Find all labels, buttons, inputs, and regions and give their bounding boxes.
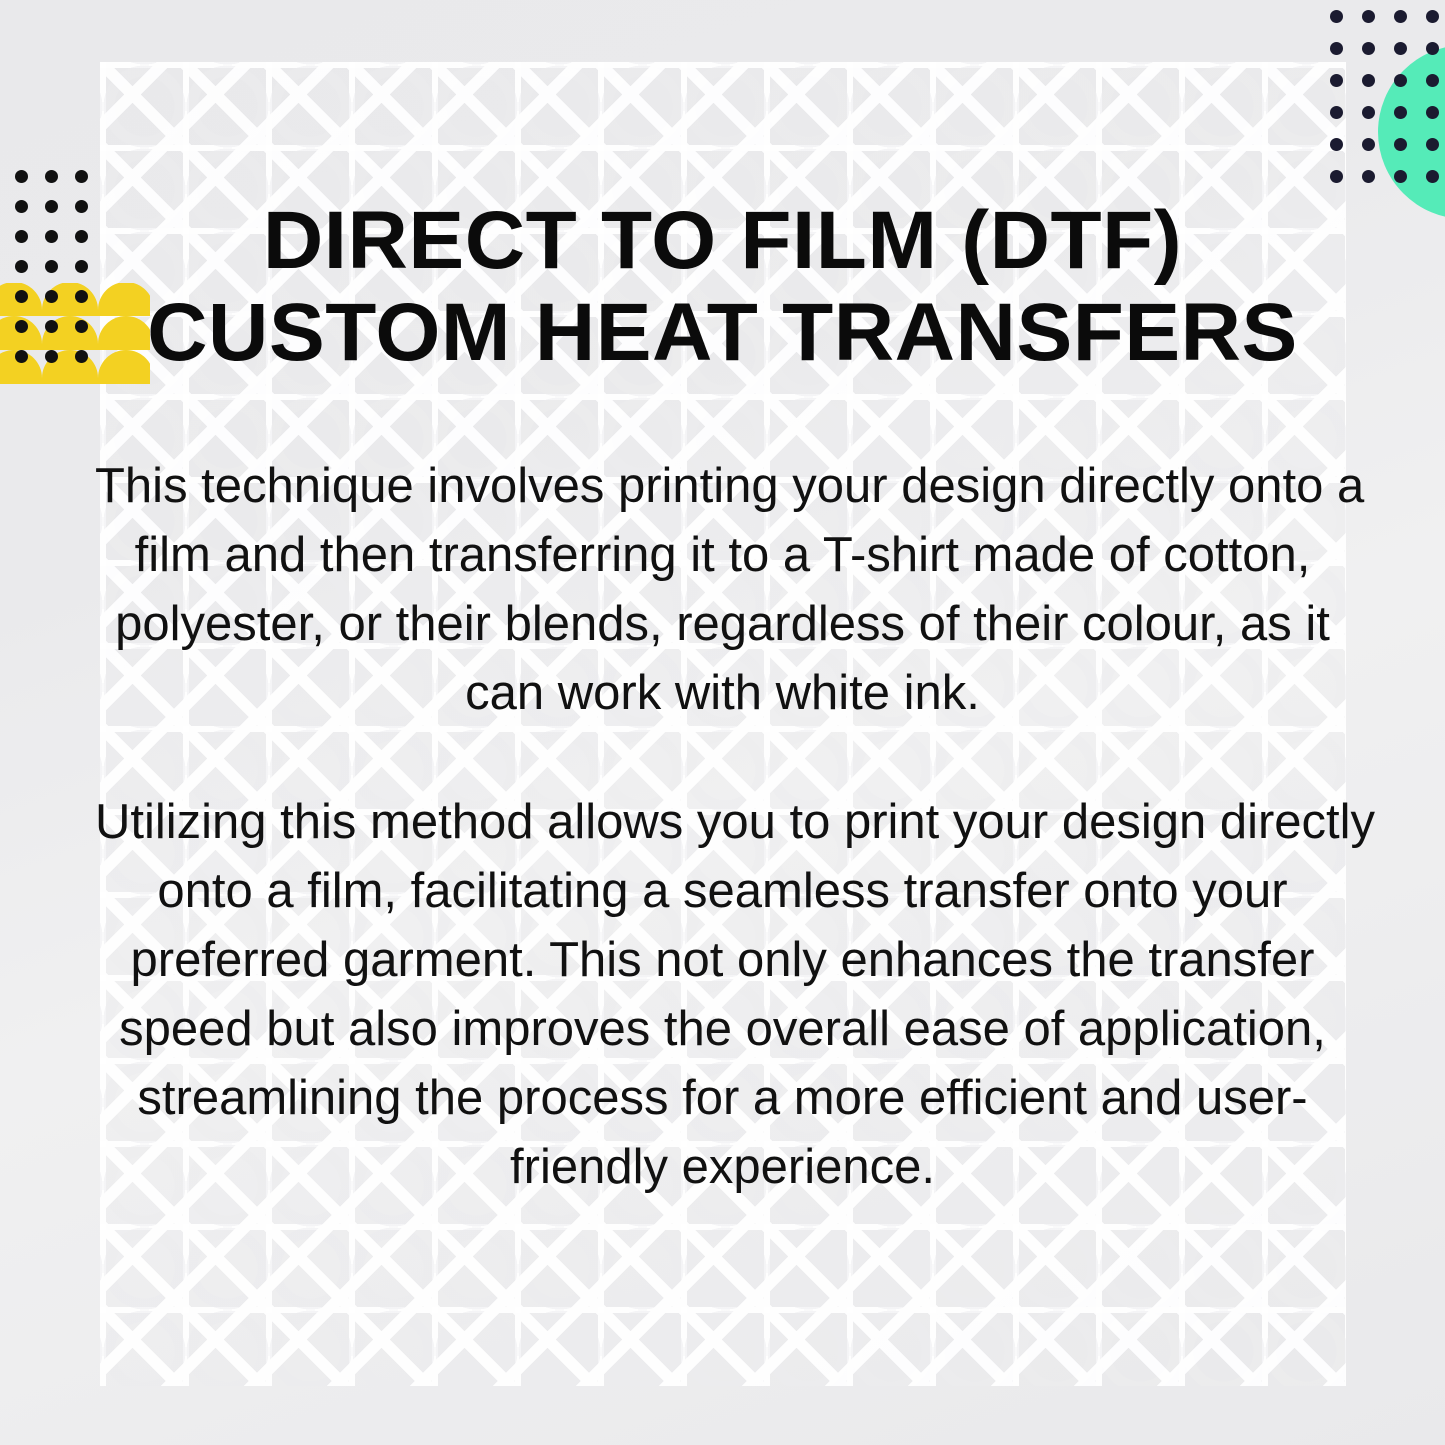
paragraph-2: Utilizing this method allows you to prin… xyxy=(95,788,1350,1202)
paragraph-2-line-4: speed but also improves the overall ease… xyxy=(95,995,1350,1064)
poster-canvas: DIRECT TO FILM (DTF) CUSTOM HEAT TRANSFE… xyxy=(0,0,1445,1445)
paragraph-2-line-2: onto a film, facilitating a seamless tra… xyxy=(95,857,1350,926)
body-copy: This technique involves printing your de… xyxy=(95,452,1350,1202)
paragraph-2-line-3: preferred garment. This not only enhance… xyxy=(95,926,1350,995)
page-title-line-1: DIRECT TO FILM (DTF) xyxy=(0,195,1445,287)
page-title-line-2: CUSTOM HEAT TRANSFERS xyxy=(0,287,1445,379)
paragraph-2-line-6: friendly experience. xyxy=(95,1133,1350,1202)
poster-content: DIRECT TO FILM (DTF) CUSTOM HEAT TRANSFE… xyxy=(0,0,1445,1445)
paragraph-1-line-1: This technique involves printing your de… xyxy=(95,452,1350,521)
paragraph-1-line-2: film and then transferring it to a T-shi… xyxy=(95,521,1350,590)
paragraph-2-line-5: streamlining the process for a more effi… xyxy=(95,1064,1350,1133)
paragraph-2-line-1: Utilizing this method allows you to prin… xyxy=(95,788,1350,857)
paragraph-1-line-3: polyester, or their blends, regardless o… xyxy=(95,590,1350,659)
page-title: DIRECT TO FILM (DTF) CUSTOM HEAT TRANSFE… xyxy=(0,195,1445,379)
paragraph-1: This technique involves printing your de… xyxy=(95,452,1350,728)
paragraph-1-line-4: can work with white ink. xyxy=(95,659,1350,728)
